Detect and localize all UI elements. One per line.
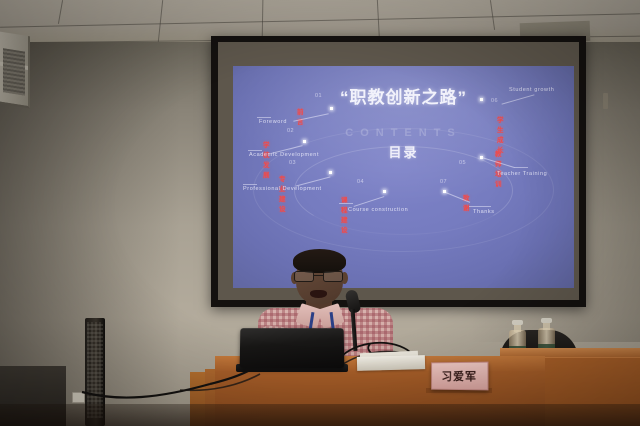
toc-leader-line: [257, 117, 271, 118]
slide-contents-word: CONTENTS: [233, 127, 574, 139]
ceiling-grid-line: [158, 0, 163, 42]
toc-label-en: Professional Development: [243, 186, 322, 192]
toc-number: 03: [289, 160, 296, 166]
ceiling-grid-line: [58, 0, 63, 24]
toc-label-en: Thanks: [473, 209, 495, 215]
toc-dot: [383, 190, 386, 193]
eyeglass-bridge: [314, 275, 323, 276]
eyeglasses-icon: [294, 271, 345, 282]
bottle-cap: [541, 318, 552, 323]
toc-dot: [480, 98, 483, 101]
toc-number: 04: [357, 179, 364, 185]
toc-leader-line: [339, 203, 353, 204]
toc-dot: [303, 140, 306, 143]
ceiling-grid-line: [490, 0, 495, 30]
toc-number: 07: [440, 179, 447, 185]
eyeglass-lens: [323, 271, 343, 282]
toc-number: 05: [459, 160, 466, 166]
toc-leader-line: [469, 206, 491, 207]
presenter-mouth: [310, 290, 327, 298]
presenter-hair: [293, 249, 346, 273]
name-placard-text: 习爱军: [442, 368, 478, 384]
toc-label-cn: 专业建设: [279, 173, 287, 213]
name-placard: 习爱军: [431, 362, 488, 391]
papers: [357, 355, 425, 371]
laptop[interactable]: [240, 328, 345, 368]
toc-number: 06: [491, 98, 498, 104]
toc-label-cn: 前 言: [297, 106, 305, 126]
toc-number: 01: [315, 93, 322, 99]
wall-fixture: [603, 93, 608, 109]
toc-label-cn: 学生成长: [497, 114, 505, 154]
bottle-cap: [512, 320, 523, 325]
toc-dot: [330, 107, 333, 110]
toc-label-cn: 学校发展: [263, 139, 271, 179]
toc-label-cn: 课程建设: [341, 194, 349, 234]
air-conditioner-grille-icon: [3, 48, 25, 95]
wall-air-conditioner: [0, 32, 30, 109]
toc-leader-line: [514, 167, 528, 168]
toc-label-en: Academic Development: [249, 152, 319, 158]
toc-leader-line: [248, 150, 262, 151]
bottle-neck: [543, 322, 550, 330]
toc-label-en: Course construction: [348, 207, 408, 213]
toc-dot: [329, 171, 332, 174]
toc-number: 02: [287, 128, 294, 134]
toc-label-en: Foreword: [259, 119, 287, 125]
toc-label-en: Student growth: [509, 87, 554, 93]
foreground-shadow: [0, 404, 640, 426]
toc-label-cn: 教师培训: [495, 148, 503, 188]
toc-leader-line: [243, 184, 257, 185]
eyeglass-lens: [294, 271, 314, 282]
lecture-room-photo: “职教创新之路” CONTENTS 目录 01 前 言 Foreword 02 …: [0, 0, 640, 426]
bottle-neck: [514, 324, 521, 332]
toc-label-en: Teacher Training: [497, 171, 547, 177]
